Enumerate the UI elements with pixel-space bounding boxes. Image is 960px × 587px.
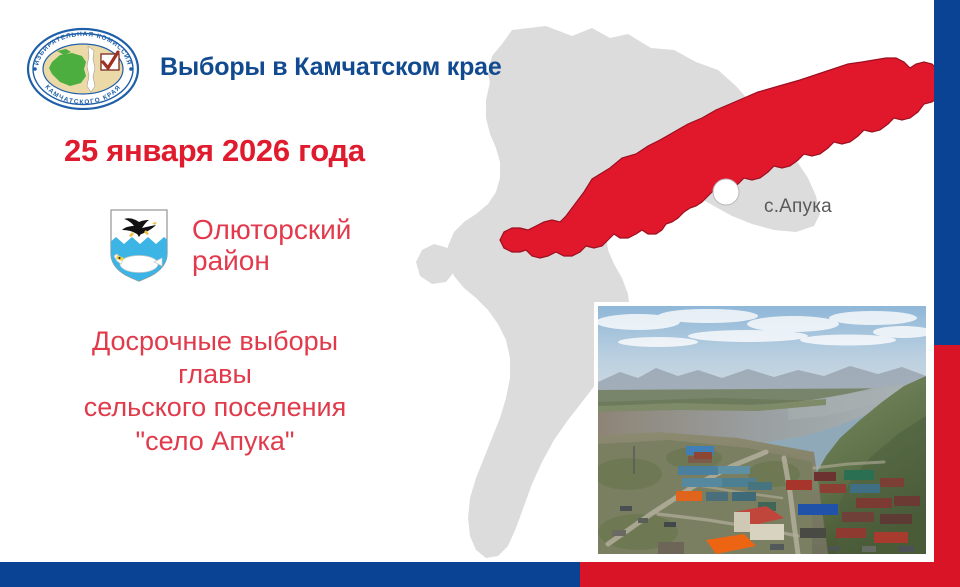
bottom-flag-bar-blue <box>0 562 580 587</box>
olyutorsky-coat-of-arms-icon <box>108 208 170 282</box>
bottom-flag-bar-red <box>580 562 960 587</box>
poster-canvas: с.Апука <box>0 0 960 587</box>
election-headline: Досрочные выборы главы сельского поселен… <box>6 325 424 458</box>
district-name-line2: район <box>192 245 351 276</box>
kamchatka-west-lobe <box>416 244 454 284</box>
headline-line-3: сельского поселения <box>6 391 424 424</box>
election-commission-logo-icon: ИЗБИРАТЕЛЬНАЯ КОМИССИЯ КАМЧАТСКОГО КРАЯ <box>24 24 142 110</box>
right-flag-bar-blue <box>934 0 960 345</box>
map-city-label: с.Апука <box>764 196 832 218</box>
photo-frame <box>594 302 930 558</box>
page-title: Выборы в Камчатском крае <box>160 53 502 82</box>
right-flag-bar-red <box>934 345 960 587</box>
apuka-village-aerial-photo <box>598 306 926 554</box>
headline-line-1: Досрочные выборы <box>6 325 424 358</box>
headline-line-4: "село Апука" <box>6 425 424 458</box>
olyutorsky-district-highlight <box>500 58 944 258</box>
district-name-line1: Олюторский <box>192 214 351 245</box>
election-date: 25 января 2026 года <box>64 133 365 169</box>
apuka-village-marker <box>713 179 739 205</box>
poster-header: ИЗБИРАТЕЛЬНАЯ КОМИССИЯ КАМЧАТСКОГО КРАЯ … <box>24 24 502 110</box>
headline-line-2: главы <box>6 358 424 391</box>
district-name: Олюторский район <box>192 214 351 277</box>
district-block: Олюторский район <box>108 208 351 282</box>
